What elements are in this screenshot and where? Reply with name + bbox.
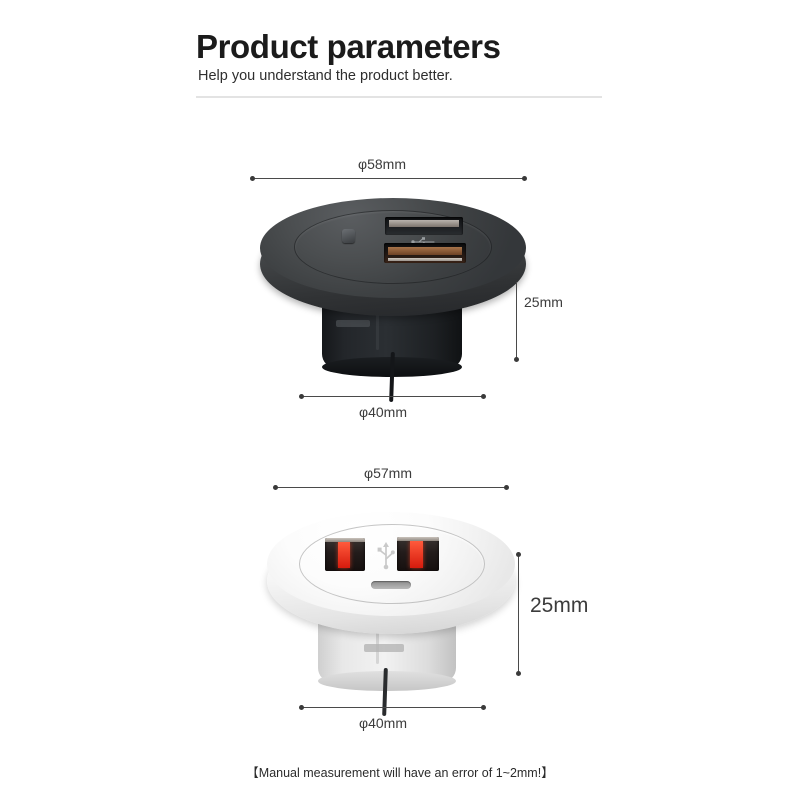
product-figure-white: φ57mm [0,0,800,800]
product-cap-white [267,512,515,634]
usb-port-right-white[interactable] [397,537,439,571]
dimension-label-height-white: 25mm [530,594,588,618]
usb-tongue-right-white [410,541,423,568]
dimension-label-top-diameter-white: φ57mm [364,465,412,481]
dimension-line-insert-diameter-white [300,707,485,708]
dimension-line-top-diameter-white [274,487,508,488]
barrel-notch-white [364,644,404,652]
usb-tongue-left-white [338,542,350,568]
led-indicator-slot-white [371,581,411,589]
power-cable-white [382,668,388,716]
usb-port-left-white[interactable] [325,538,365,571]
footer-note: 【Manual measurement will have an error o… [0,762,800,781]
dimension-line-height-white [518,554,519,674]
usb-port-right-top-edge-white [397,537,439,541]
usb-trident-icon-white [375,540,397,570]
dimension-label-insert-diameter-white: φ40mm [359,715,407,731]
usb-port-left-top-edge-white [325,538,365,542]
